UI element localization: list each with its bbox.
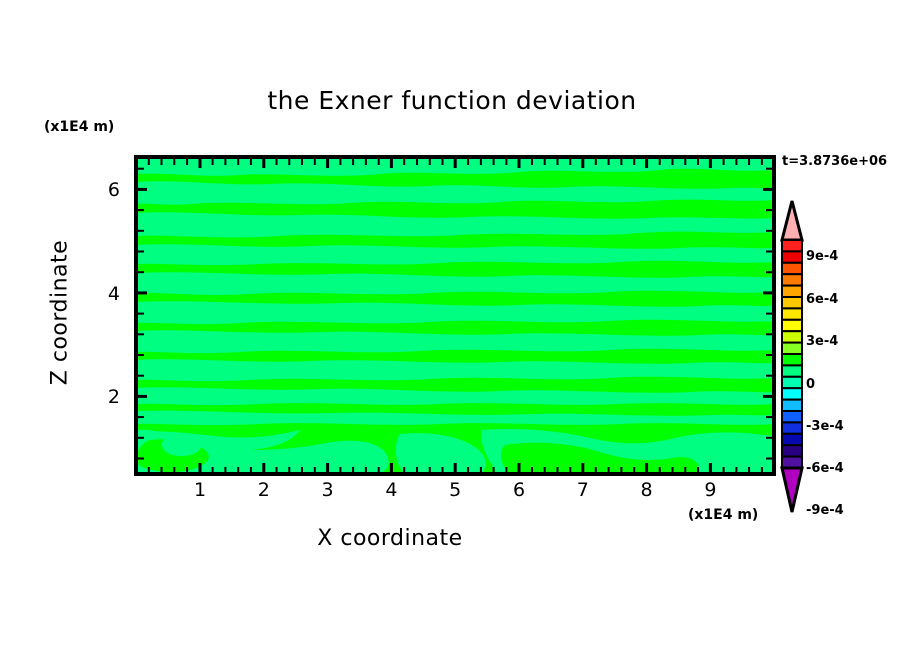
x-tick-label: 7 (563, 479, 603, 501)
x-tick-label: 9 (690, 479, 730, 501)
colorbar-tick-label: -3e-4 (806, 419, 844, 434)
contour-field (136, 157, 774, 474)
colorbar-tick-label: 6e-4 (806, 292, 838, 307)
y-tick-label: 6 (80, 179, 120, 201)
colorbar-tick-label: -6e-4 (806, 461, 844, 476)
x-tick-label: 3 (308, 479, 348, 501)
colorbar-extend-top (782, 201, 802, 240)
y-tick-label: 4 (80, 283, 120, 305)
colorbar-tick-label: -9e-4 (806, 503, 844, 518)
x-tick-label: 2 (244, 479, 284, 501)
colorbar-extend-bottom (782, 468, 802, 512)
x-tick-label: 4 (371, 479, 411, 501)
x-tick-label: 8 (627, 479, 667, 501)
colorbar-bands (782, 240, 802, 468)
colorbar-tick-label: 9e-4 (806, 249, 838, 264)
figure-root: the Exner function deviation (x1E4 m) (x… (0, 0, 904, 654)
x-tick-label: 1 (180, 479, 220, 501)
x-tick-label: 5 (435, 479, 475, 501)
colorbar-tick-label: 0 (806, 377, 815, 392)
colorbar-tick-label: 3e-4 (806, 334, 838, 349)
colorbar[interactable] (782, 201, 802, 512)
x-tick-label: 6 (499, 479, 539, 501)
contour-plot (0, 0, 904, 654)
y-tick-label: 2 (80, 386, 120, 408)
